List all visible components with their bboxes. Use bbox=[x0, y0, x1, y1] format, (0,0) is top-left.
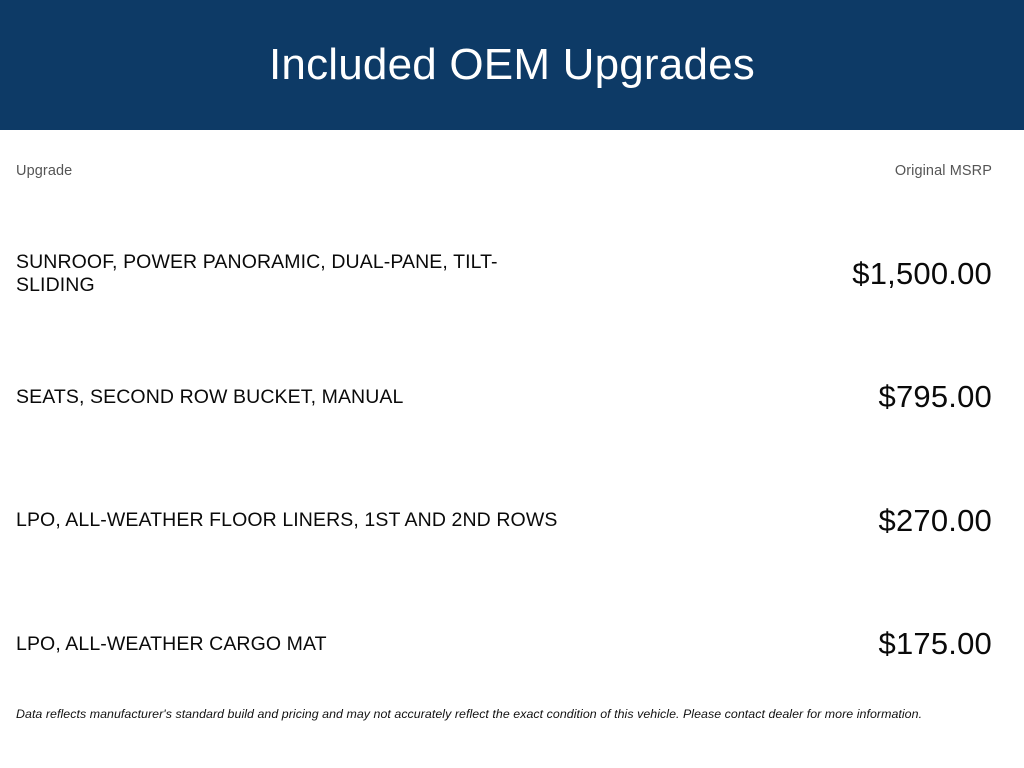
column-header-upgrade: Upgrade bbox=[16, 163, 895, 179]
upgrade-price: $175.00 bbox=[879, 627, 992, 661]
column-header-original-msrp: Original MSRP bbox=[895, 163, 992, 179]
table-row: SUNROOF, POWER PANORAMIC, DUAL-PANE, TIL… bbox=[16, 212, 992, 336]
upgrade-name: SUNROOF, POWER PANORAMIC, DUAL-PANE, TIL… bbox=[16, 251, 576, 297]
page-title: Included OEM Upgrades bbox=[269, 41, 755, 89]
table-body: SUNROOF, POWER PANORAMIC, DUAL-PANE, TIL… bbox=[16, 212, 992, 706]
upgrade-price: $795.00 bbox=[879, 380, 992, 414]
upgrade-name: LPO, ALL-WEATHER CARGO MAT bbox=[16, 633, 576, 656]
oem-upgrades-page: Included OEM Upgrades Upgrade Original M… bbox=[0, 0, 1024, 768]
table-row: SEATS, SECOND ROW BUCKET, MANUAL $795.00 bbox=[16, 336, 992, 460]
upgrade-name: LPO, ALL-WEATHER FLOOR LINERS, 1ST AND 2… bbox=[16, 509, 576, 532]
table-header-row: Upgrade Original MSRP bbox=[16, 130, 992, 212]
page-header-band: Included OEM Upgrades bbox=[0, 0, 1024, 130]
upgrades-table: Upgrade Original MSRP SUNROOF, POWER PAN… bbox=[0, 130, 1024, 706]
table-row: LPO, ALL-WEATHER FLOOR LINERS, 1ST AND 2… bbox=[16, 459, 992, 583]
upgrade-name: SEATS, SECOND ROW BUCKET, MANUAL bbox=[16, 386, 576, 409]
upgrade-price: $1,500.00 bbox=[852, 257, 992, 291]
table-row: LPO, ALL-WEATHER CARGO MAT $175.00 bbox=[16, 583, 992, 707]
upgrade-price: $270.00 bbox=[879, 504, 992, 538]
disclaimer-text: Data reflects manufacturer's standard bu… bbox=[0, 706, 1024, 768]
